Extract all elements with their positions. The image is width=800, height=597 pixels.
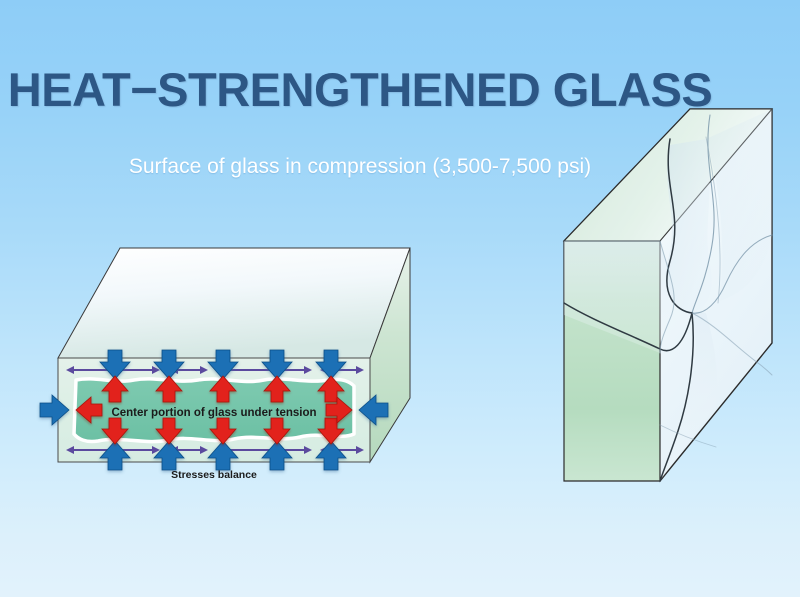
stress-diagram-svg: Center portion of glass under tension St… [10, 190, 430, 500]
fractured-glass-figure [520, 95, 790, 520]
fractured-glass-svg [520, 95, 790, 515]
stress-diagram-figure: Center portion of glass under tension St… [10, 190, 430, 505]
slab-top-face [58, 248, 410, 358]
slide-canvas: HEAT−STRENGTHENED GLASS Surface of glass… [0, 0, 800, 597]
core-tension-label: Center portion of glass under tension [111, 407, 316, 419]
stresses-balance-label: Stresses balance [171, 469, 257, 481]
